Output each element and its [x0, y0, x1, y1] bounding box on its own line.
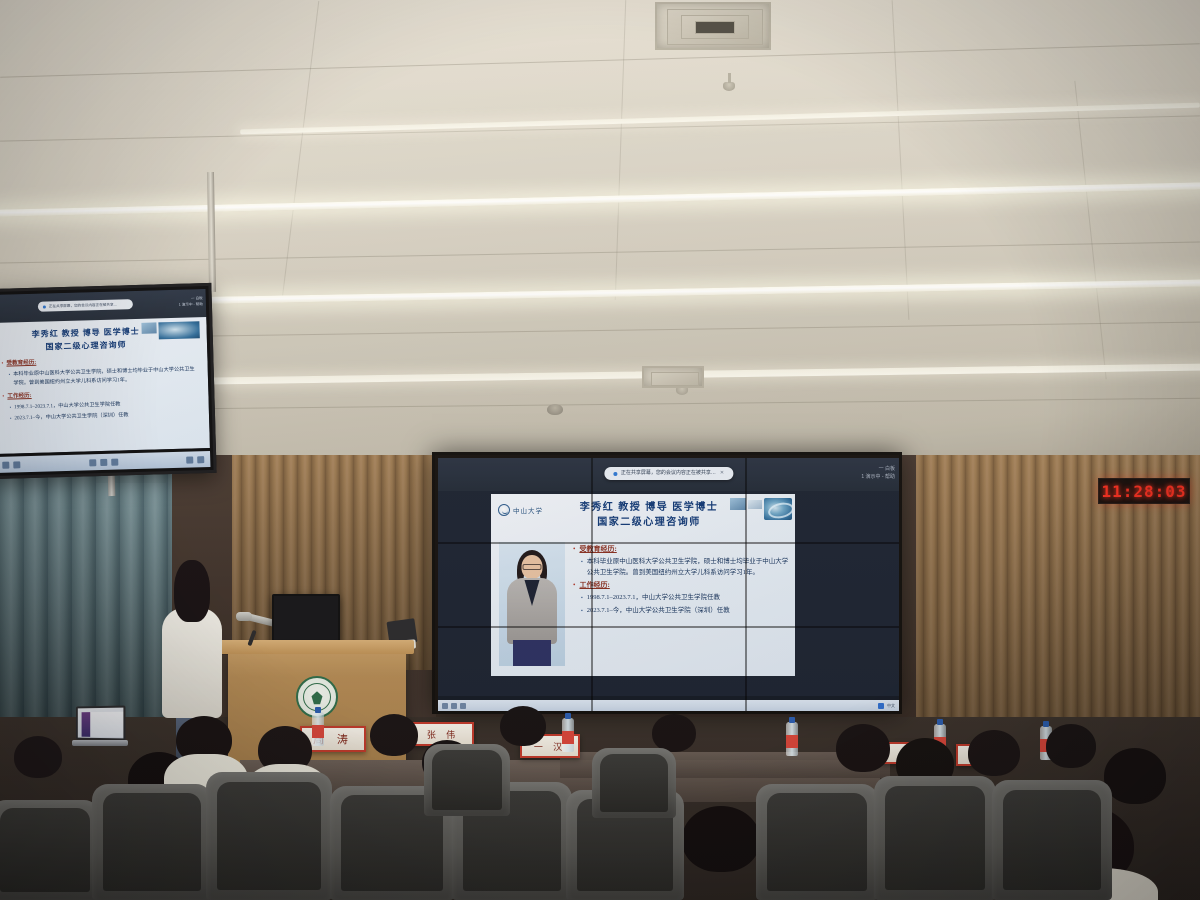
laptop-base [72, 740, 128, 746]
sub-bullet-icon: ▪ [581, 593, 583, 604]
stage-curtain-left-fold [96, 483, 166, 725]
secondary-header-images [141, 321, 199, 340]
secondary-monitor[interactable]: 正在共享屏幕，您的会议内容正在被共享… 一 白板 1 演示中 - 帮助 李秀红 … [0, 283, 217, 479]
education-heading: 受教育经历: [579, 544, 616, 555]
network-icon[interactable] [186, 456, 193, 463]
bullet-icon: • [2, 393, 4, 402]
start-icon[interactable] [2, 461, 9, 468]
secondary-monitor-screen: 正在共享屏幕，您的会议内容正在被共享… 一 白板 1 演示中 - 帮助 李秀红 … [0, 289, 210, 454]
share-screen-icon [613, 472, 617, 476]
bullet-icon: • [573, 544, 575, 555]
slide-header-images [730, 498, 792, 524]
videowall-tile-seam [438, 626, 899, 628]
close-icon[interactable]: ✕ [720, 467, 724, 480]
person-head [682, 806, 760, 872]
videowall-tile-seam [591, 458, 593, 711]
nameplate-text: 张 伟 [427, 728, 459, 741]
university-logo: 中山大学 [498, 502, 554, 517]
videowall-tile-seam [438, 542, 899, 544]
speaker-portrait-photo [499, 542, 565, 666]
video-wall-display[interactable]: 正在共享屏幕，您的会议内容正在被共享… ✕ 一 白板 1 演示中 - 帮助 中山… [432, 452, 902, 714]
secondary-share-indicator[interactable]: 正在共享屏幕，您的会议内容正在被共享… [38, 299, 133, 312]
auditorium-seat[interactable] [874, 776, 996, 900]
presentation-slide: 中山大学 李秀红 教授 博导 医学博士 国家二级心理咨询师 [491, 494, 795, 676]
university-logo-text: 中山大学 [513, 505, 543, 515]
secondary-taskbar[interactable] [0, 451, 210, 473]
slide-section-heading: • 受教育经历: [573, 544, 789, 555]
monitor-arm-joint [236, 612, 252, 621]
hvac-vent-icon [655, 2, 771, 50]
person-head [968, 730, 1020, 776]
auditorium-seat[interactable] [92, 784, 212, 900]
app-icon[interactable] [111, 458, 118, 465]
work-item-2: 2023.7.1–今，中山大学公共卫生学院（深圳）任教 [587, 606, 730, 617]
auditorium-seat[interactable] [0, 800, 100, 900]
clock-time: 11:28:03 [1101, 482, 1186, 501]
person-head [652, 714, 696, 752]
secondary-work-heading: 工作经历: [7, 392, 31, 402]
sub-bullet-icon: ▪ [581, 606, 583, 617]
monitor-ceiling-mount [207, 172, 216, 292]
ceiling-camera-icon [547, 404, 563, 415]
header-image-globe [158, 321, 199, 339]
ceiling-light-strip-1 [0, 182, 1200, 217]
secondary-work-item-2: 2023.7.1–今，中山大学公共卫生学院（深圳）任教 [14, 411, 128, 423]
bullet-icon: • [573, 580, 575, 591]
ime-icon[interactable] [878, 703, 884, 709]
secondary-taskbar-left[interactable] [2, 461, 20, 468]
bullet-icon: • [1, 360, 3, 369]
sub-bullet-icon: ▪ [10, 414, 12, 423]
video-wall-canvas: 正在共享屏幕，您的会议内容正在被共享… ✕ 一 白板 1 演示中 - 帮助 中山… [438, 458, 899, 711]
secondary-education-item-1: 本科毕业原中山医科大学公共卫生学院，硕士和博士均毕业于中山大学公共卫生学院。曾到… [13, 365, 200, 387]
header-image-a [141, 322, 156, 333]
podium-monitor[interactable] [272, 594, 340, 644]
taskbar-language: 中文 [887, 703, 895, 709]
browser-icon[interactable] [460, 703, 466, 709]
folder-icon[interactable] [89, 459, 96, 466]
os-taskbar[interactable]: 中文 [438, 700, 899, 711]
slide-title-line-2: 国家二级心理咨询师 [569, 515, 729, 530]
slide-header: 中山大学 李秀红 教授 博导 医学博士 国家二级心理咨询师 [491, 494, 795, 539]
person-torso [162, 608, 222, 718]
header-image-b [748, 500, 762, 509]
water-bottle [562, 718, 574, 752]
volume-icon[interactable] [197, 456, 204, 463]
auditorium-seat[interactable] [592, 748, 676, 818]
hvac-vent-icon [642, 366, 704, 388]
portrait-skirt [513, 640, 551, 666]
person-head [500, 706, 546, 746]
folder-icon[interactable] [451, 703, 457, 709]
education-item-1: 本科毕业原中山医科大学公共卫生学院，硕士和博士均毕业于中山大学公共卫生学院。曾到… [587, 557, 789, 578]
water-bottle [312, 712, 324, 746]
led-wall-clock: 11:28:03 [1098, 478, 1190, 504]
meeting-app-topbar: 正在共享屏幕，您的会议内容正在被共享… ✕ 一 白板 1 演示中 - 帮助 [438, 458, 899, 491]
secondary-slide: 李秀红 教授 博导 医学博士 国家二级心理咨询师 • 受教育经历: ▪ 本科毕业… [0, 317, 210, 454]
browser-icon[interactable] [100, 458, 107, 465]
sub-bullet-icon: ▪ [10, 404, 12, 413]
share-pill-label: 正在共享屏幕，您的会议内容正在被共享… [621, 467, 716, 480]
auditorium-seat[interactable] [992, 780, 1112, 900]
slide-body: • 受教育经历: ▪ 本科毕业原中山医科大学公共卫生学院，硕士和博士均毕业于中山… [573, 542, 789, 617]
portrait-glasses [523, 564, 542, 570]
laptop-lid [76, 705, 126, 740]
lecture-hall-photo: 11:28:03 正在共享屏幕，您的会议内容正在被共享… ✕ 一 白板 1 演示… [0, 0, 1200, 900]
audience-laptop[interactable] [72, 706, 128, 746]
water-bottle [786, 722, 798, 756]
secondary-taskbar-center[interactable] [89, 458, 118, 466]
header-image-a [730, 498, 746, 510]
auditorium-seat[interactable] [206, 772, 332, 900]
slide-bullet: ▪ 本科毕业原中山医科大学公共卫生学院，硕士和博士均毕业于中山大学公共卫生学院。… [581, 557, 789, 578]
taskbar-tray[interactable]: 中文 [878, 703, 895, 709]
share-screen-icon [43, 305, 46, 308]
screen-share-indicator[interactable]: 正在共享屏幕，您的会议内容正在被共享… ✕ [604, 467, 733, 480]
person-head [836, 724, 890, 772]
secondary-share-label: 正在共享屏幕，您的会议内容正在被共享… [49, 302, 117, 309]
taskbar-app-buttons[interactable] [442, 703, 466, 709]
auditorium-seat[interactable] [424, 744, 510, 816]
slide-bullet: ▪ 2023.7.1–今，中山大学公共卫生学院（深圳）任教 [581, 606, 789, 617]
auditorium-seat[interactable] [756, 784, 878, 900]
secondary-bullet: ▪ 本科毕业原中山医科大学公共卫生学院，硕士和博士均毕业于中山大学公共卫生学院。… [9, 365, 200, 388]
meeting-side-panel[interactable]: 一 白板 1 演示中 - 帮助 [833, 465, 895, 481]
person-head [1046, 724, 1096, 768]
slide-bullet: ▪ 1998.7.1–2023.7.1，中山大学公共卫生学院任教 [581, 593, 789, 604]
videowall-tile-seam [745, 458, 747, 711]
university-seal-icon [498, 504, 510, 516]
secondary-side-panel[interactable]: 一 白板 1 演示中 - 帮助 [163, 295, 203, 308]
slide-title-line-1: 李秀红 教授 博导 医学博士 [569, 500, 729, 515]
work-item-1: 1998.7.1–2023.7.1，中山大学公共卫生学院任教 [587, 593, 720, 604]
secondary-taskbar-tray[interactable] [186, 456, 204, 463]
secondary-side-line-2: 1 演示中 - 帮助 [163, 301, 203, 308]
start-icon[interactable] [442, 703, 448, 709]
person-head [370, 714, 418, 756]
slide-title: 李秀红 教授 博导 医学博士 国家二级心理咨询师 [569, 500, 729, 530]
side-panel-line-1: 一 白板 [833, 465, 895, 473]
sub-bullet-icon: ▪ [9, 371, 11, 388]
side-panel-line-2: 1 演示中 - 帮助 [833, 473, 895, 481]
person-head [174, 560, 210, 622]
person-head [14, 736, 62, 778]
fire-sprinkler-icon [723, 82, 735, 91]
laptop-screen [82, 712, 124, 738]
person-head [1104, 748, 1166, 804]
secondary-work-item-1: 1998.7.1–2023.7.1，中山大学公共卫生学院任教 [14, 401, 121, 413]
work-heading: 工作经历: [579, 580, 609, 591]
search-icon[interactable] [13, 461, 20, 468]
laptop-sidebar [82, 712, 91, 737]
secondary-education-heading: 受教育经历: [6, 359, 36, 369]
header-image-globe [764, 498, 792, 520]
sub-bullet-icon: ▪ [581, 557, 583, 578]
slide-section-heading: • 工作经历: [573, 580, 789, 591]
